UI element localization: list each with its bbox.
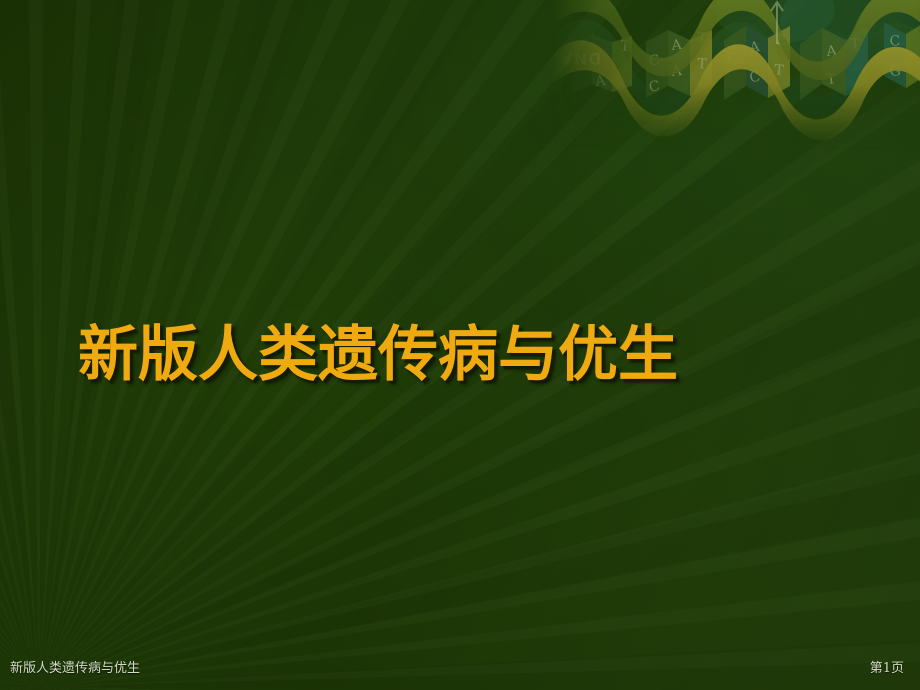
presentation-slide: A A T A A T T C C A C T T C A T T C G: [0, 0, 920, 690]
slide-title: 新版人类遗传病与优生: [78, 322, 678, 389]
page-number: 第1页: [870, 657, 904, 676]
footer-title-text: 新版人类遗传病与优生: [10, 657, 140, 676]
